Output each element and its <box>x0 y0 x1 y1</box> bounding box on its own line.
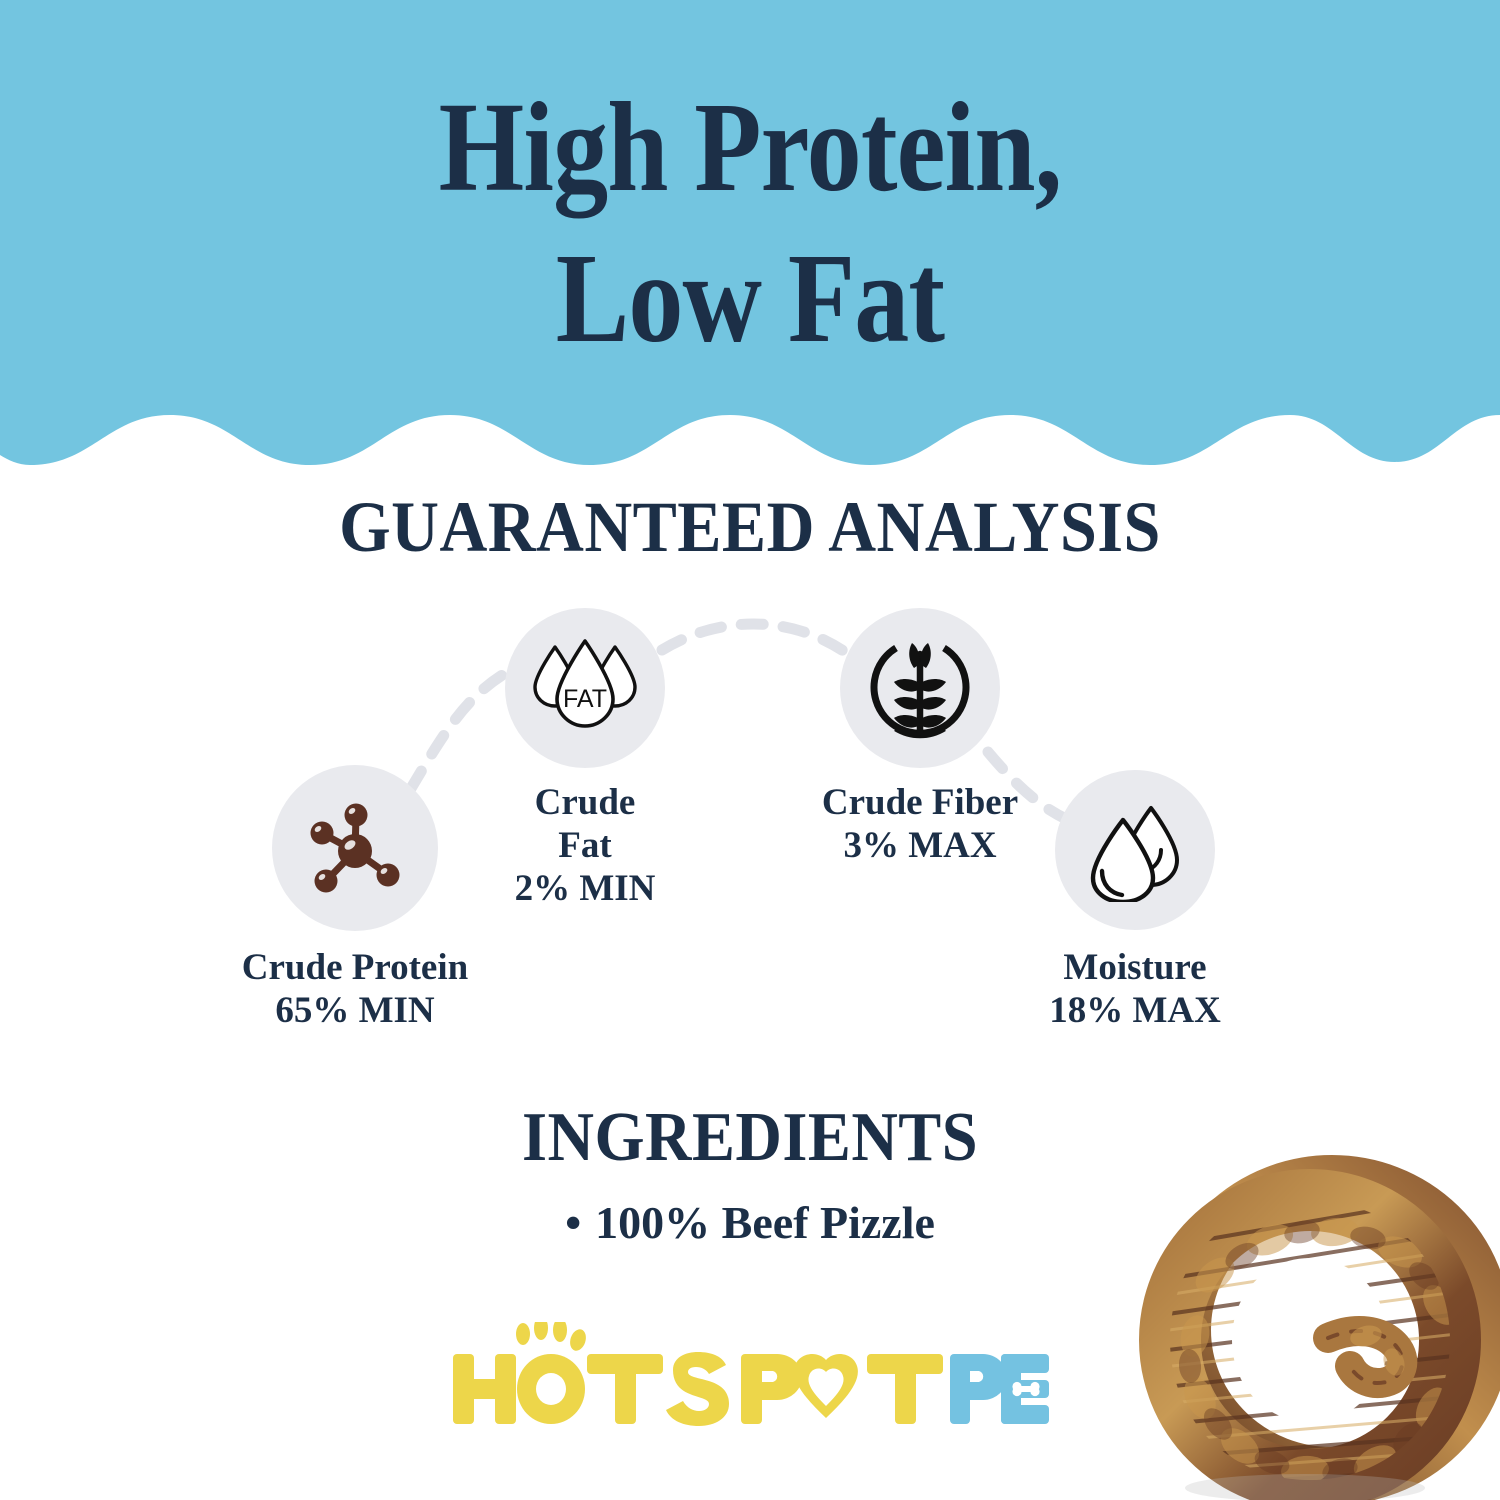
moisture-label: Moisture 18% MAX <box>955 947 1315 1033</box>
wheat-stalk-icon <box>866 634 974 742</box>
moisture-value: 18% MAX <box>955 990 1315 1033</box>
ingredient-text: 100% Beef Pizzle <box>595 1197 935 1248</box>
crude-fat-bubble: FAT <box>505 608 665 768</box>
crude-fat-name-line-1: Crude <box>535 782 636 823</box>
brand-logo[interactable] <box>0 1322 1500 1442</box>
hotspotpets-logo-mark[interactable] <box>445 1322 1055 1440</box>
fat-icon-text: FAT <box>563 685 607 713</box>
paw-print-icon <box>516 1322 589 1353</box>
crude-fiber-value: 3% MAX <box>700 825 1140 868</box>
crude-fiber-label: Crude Fiber 3% MAX <box>700 782 1140 868</box>
crude-protein-label: Crude Protein 65% MIN <box>100 947 610 1033</box>
crude-fiber-bubble <box>840 608 1000 768</box>
crude-protein-name: Crude Protein <box>242 947 468 988</box>
crude-protein-value: 65% MIN <box>100 990 610 1033</box>
guaranteed-analysis-cluster: Crude Protein 65% MIN FAT Crude Fat 2% M… <box>0 0 1500 1060</box>
product-image <box>1120 1140 1500 1500</box>
moisture-name: Moisture <box>1063 947 1206 988</box>
braided-beef-pizzle-ring <box>1120 1140 1500 1500</box>
fat-droplets-icon: FAT <box>529 635 641 741</box>
bullet-icon: • <box>565 1196 581 1249</box>
crude-fat-value: 2% MIN <box>390 868 780 911</box>
crude-fiber-name: Crude Fiber <box>822 782 1018 823</box>
infographic-canvas: High Protein, Low Fat GUARANTEED ANALYSI… <box>0 0 1500 1500</box>
